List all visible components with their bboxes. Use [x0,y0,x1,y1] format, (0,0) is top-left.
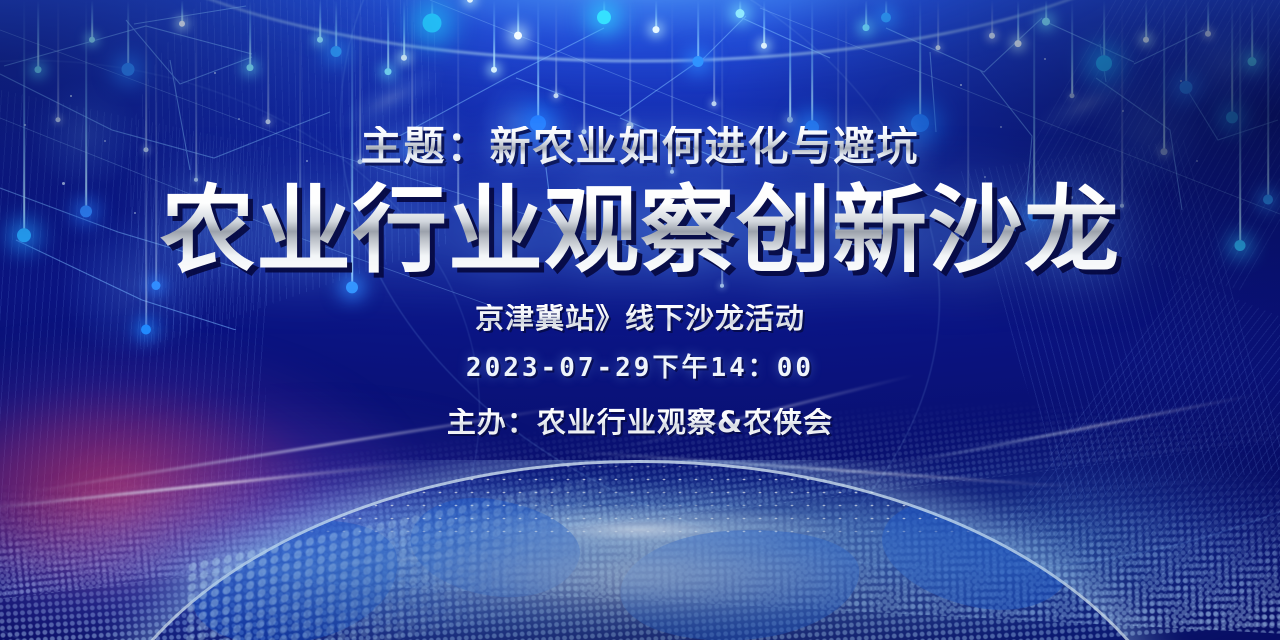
host-line: 主办：农业行业观察&农侠会 [0,408,1280,437]
station-line: 京津冀站》线下沙龙活动 [0,304,1280,333]
page-title: 农业行业观察创新沙龙 [0,181,1280,282]
topic-line: 主题：新农业如何进化与避坑 [0,126,1280,167]
event-datetime: 2023-07-29下午14：00 [0,355,1280,381]
poster-content: 主题：新农业如何进化与避坑 农业行业观察创新沙龙 京津冀站》线下沙龙活动 202… [0,0,1280,437]
event-poster: 主题：新农业如何进化与避坑 农业行业观察创新沙龙 京津冀站》线下沙龙活动 202… [0,0,1280,640]
